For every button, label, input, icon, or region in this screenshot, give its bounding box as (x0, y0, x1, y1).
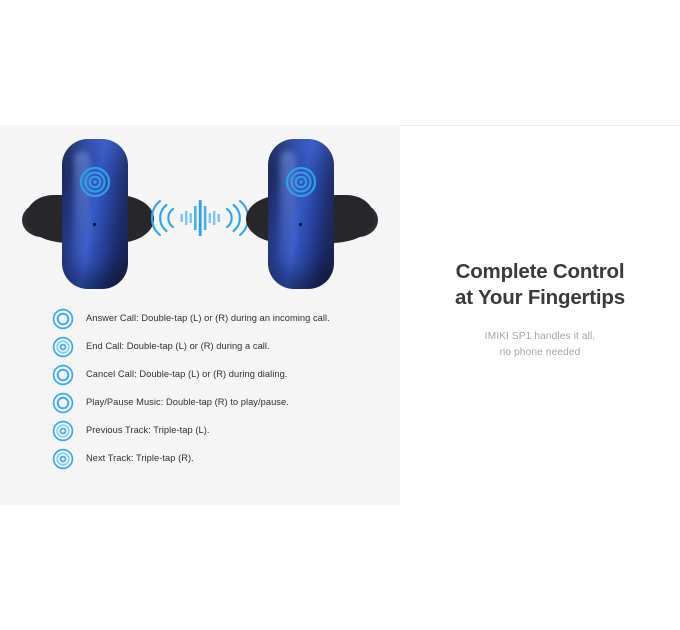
touch-ripple-icon (284, 165, 318, 199)
touch-ripple-icon (52, 392, 74, 414)
list-item: End Call: Double-tap (L) or (R) during a… (52, 333, 392, 361)
left-illustration-panel: Answer Call: Double-tap (L) or (R) durin… (0, 125, 400, 505)
earbud-right-mic-hole (299, 223, 302, 226)
list-item-label: End Call: Double-tap (L) or (R) during a… (86, 342, 270, 351)
touch-control-feature-list: Answer Call: Double-tap (L) or (R) durin… (52, 305, 392, 473)
list-item: Play/Pause Music: Double-tap (R) to play… (52, 389, 392, 417)
touch-ripple-icon (52, 336, 74, 358)
list-item: Next Track: Triple-tap (R). (52, 445, 392, 473)
earbud-left-body (62, 139, 128, 289)
right-copy-panel: Complete Control at Your Fingertips IMIK… (400, 125, 680, 505)
list-item: Answer Call: Double-tap (L) or (R) durin… (52, 305, 392, 333)
touch-ripple-icon (52, 448, 74, 470)
earbud-right-body (268, 139, 334, 289)
list-item: Previous Track: Triple-tap (L). (52, 417, 392, 445)
list-item-label: Previous Track: Triple-tap (L). (86, 426, 209, 435)
touch-ripple-icon (78, 165, 112, 199)
subheadline: IMIKI SP1 handles it all, no phone neede… (414, 329, 666, 361)
list-item-label: Play/Pause Music: Double-tap (R) to play… (86, 398, 289, 407)
subheadline-line-2: no phone needed (500, 347, 581, 358)
product-feature-banner: Answer Call: Double-tap (L) or (R) durin… (0, 125, 680, 505)
touch-ripple-icon (52, 308, 74, 330)
touch-ripple-icon (52, 364, 74, 386)
touch-ripple-icon (52, 420, 74, 442)
page-title: Complete Control at Your Fingertips (414, 259, 666, 311)
earbud-left-mic-hole (93, 223, 96, 226)
list-item-label: Cancel Call: Double-tap (L) or (R) durin… (86, 370, 287, 379)
copy-block: Complete Control at Your Fingertips IMIK… (400, 259, 680, 361)
list-item-label: Answer Call: Double-tap (L) or (R) durin… (86, 314, 330, 323)
subheadline-line-1: IMIKI SP1 handles it all, (485, 331, 596, 342)
earbuds-illustration (0, 133, 400, 293)
earbud-right (228, 133, 378, 293)
headline-line-1: Complete Control (456, 260, 625, 283)
headline-line-2: at Your Fingertips (455, 286, 625, 309)
list-item-label: Next Track: Triple-tap (R). (86, 454, 194, 463)
list-item: Cancel Call: Double-tap (L) or (R) durin… (52, 361, 392, 389)
